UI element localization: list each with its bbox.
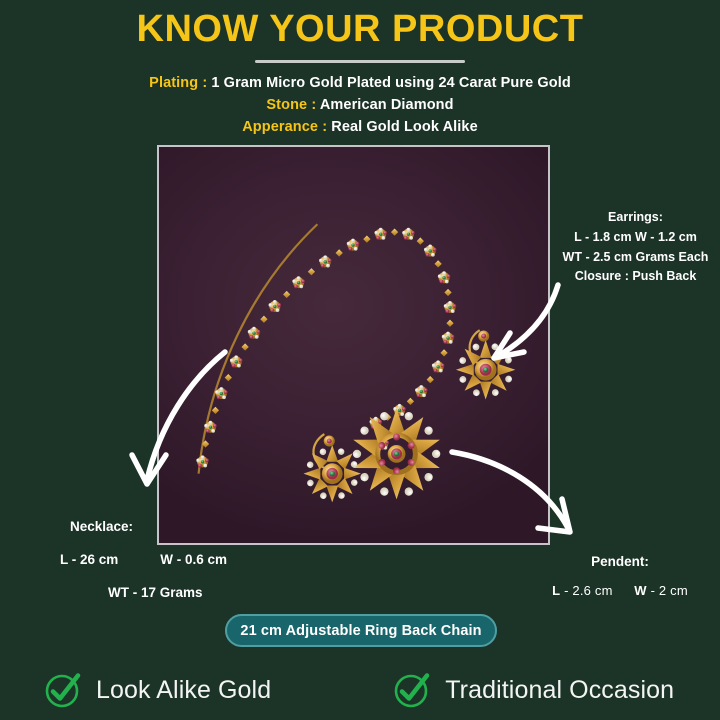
spec-value-plating: 1 Gram Micro Gold Plated using 24 Carat … bbox=[207, 75, 571, 91]
jewelry-illustration bbox=[159, 147, 548, 543]
feature-row: Look Alike Gold Traditional Occasion bbox=[0, 660, 720, 720]
product-photo-necklace-set bbox=[157, 145, 550, 545]
callout-pendent: Pendent: L - 2.6 cm W - 2 cm bbox=[520, 554, 720, 598]
adjustable-chain-badge: 21 cm Adjustable Ring Back Chain bbox=[225, 614, 497, 647]
callout-earrings: Earrings: L - 1.8 cm W - 1.2 cm WT - 2.5… bbox=[553, 208, 718, 287]
pendent-width-value: - 2 cm bbox=[651, 583, 688, 598]
necklace-weight: WT - 17 Grams bbox=[108, 585, 310, 600]
spec-key-stone: Stone : bbox=[266, 97, 316, 113]
spec-value-stone: American Diamond bbox=[316, 97, 453, 113]
earrings-title: Earrings: bbox=[553, 208, 718, 228]
feature-traditional-occasion: Traditional Occasion bbox=[391, 670, 674, 710]
check-circle-icon bbox=[42, 670, 82, 710]
spec-row-apperance: Apperance : Real Gold Look Alike bbox=[0, 116, 720, 138]
necklace-length: L - 26 cm bbox=[60, 552, 118, 567]
spec-key-apperance: Apperance : bbox=[242, 119, 331, 135]
necklace-width: W - 0.6 cm bbox=[160, 552, 227, 567]
spec-value-apperance: Real Gold Look Alike bbox=[331, 119, 478, 135]
necklace-title: Necklace: bbox=[70, 519, 310, 534]
feature-label: Traditional Occasion bbox=[445, 676, 674, 705]
pendent-length-label: L bbox=[552, 583, 560, 598]
badge-label: 21 cm Adjustable Ring Back Chain bbox=[240, 623, 481, 639]
pendent-title: Pendent: bbox=[520, 554, 720, 569]
earrings-weight: WT - 2.5 cm Grams Each bbox=[553, 248, 718, 268]
pendent-length-value: - 2.6 cm bbox=[564, 583, 613, 598]
necklace-dimensions: L - 26 cm W - 0.6 cm bbox=[60, 552, 310, 567]
pendent-dimensions: L - 2.6 cm W - 2 cm bbox=[520, 583, 720, 598]
page-title: KNOW YOUR PRODUCT bbox=[0, 10, 720, 50]
title-divider bbox=[255, 60, 465, 63]
spec-key-plating: Plating : bbox=[149, 75, 207, 91]
earrings-dimensions: L - 1.8 cm W - 1.2 cm bbox=[553, 228, 718, 248]
pendent-width-label: W bbox=[634, 583, 646, 598]
spec-row-stone: Stone : American Diamond bbox=[0, 94, 720, 116]
check-circle-icon bbox=[391, 670, 431, 710]
feature-look-alike-gold: Look Alike Gold bbox=[42, 670, 271, 710]
earrings-closure: Closure : Push Back bbox=[553, 267, 718, 287]
header: KNOW YOUR PRODUCT Plating : 1 Gram Micro… bbox=[0, 0, 720, 138]
spec-row-plating: Plating : 1 Gram Micro Gold Plated using… bbox=[0, 72, 720, 94]
callout-necklace: Necklace: L - 26 cm W - 0.6 cm WT - 17 G… bbox=[60, 519, 310, 600]
feature-label: Look Alike Gold bbox=[96, 676, 271, 705]
